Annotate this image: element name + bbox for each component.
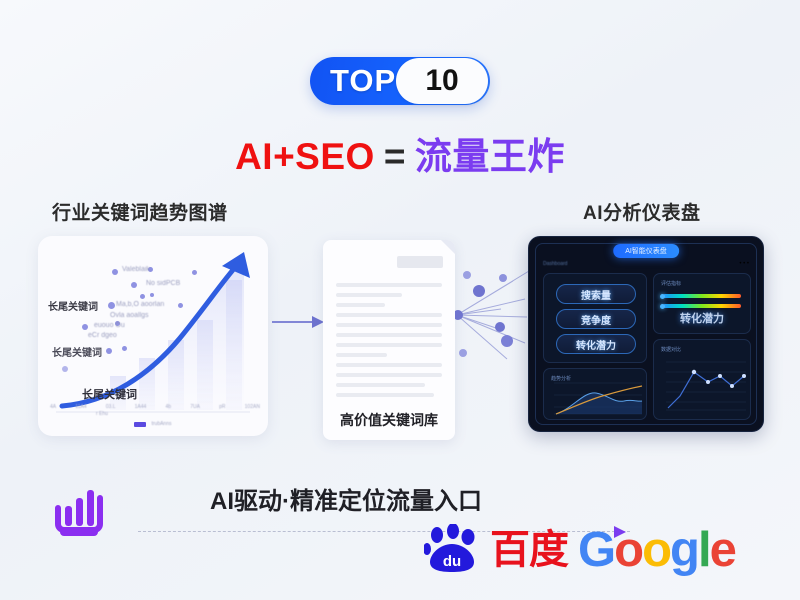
axis-tick: 102AN xyxy=(245,404,260,410)
axis-tick: 4b xyxy=(165,404,171,410)
google-letter: e xyxy=(710,523,735,577)
metric-button-search-volume[interactable]: 搜索量 xyxy=(556,284,636,304)
google-letter: g xyxy=(670,523,698,577)
google-letter: l xyxy=(698,523,710,577)
scatter-dot xyxy=(106,348,112,354)
scatter-dot xyxy=(131,282,137,288)
trend-analysis-panel: 趋势分析 xyxy=(543,368,647,420)
axis-tick: 7UA xyxy=(190,404,200,410)
scatter-dot xyxy=(62,366,68,372)
trend-legend: trubAnns xyxy=(38,421,268,427)
bar-chart-pedestal-icon xyxy=(48,480,110,542)
scatter-dot xyxy=(178,303,183,308)
axis-tick: pR xyxy=(219,404,225,410)
longtail-keyword-label: 长尾关键词 xyxy=(48,298,98,313)
blur-label: No sidPCB xyxy=(146,280,180,287)
right-section-caption: AI分析仪表盘 xyxy=(583,198,701,225)
headline-left: AI+SEO xyxy=(235,136,375,177)
document-header-block xyxy=(397,256,443,268)
gradient-meter xyxy=(663,304,741,308)
scatter-dot xyxy=(82,324,88,330)
scatter-dot xyxy=(192,270,197,275)
dashboard-subtitle: Dashboard xyxy=(543,261,567,267)
legend-swatch xyxy=(134,422,146,427)
meter-handle-icon[interactable] xyxy=(660,294,665,299)
metric-button-conversion[interactable]: 转化潜力 xyxy=(556,334,636,354)
score-meters-panel: 评估指标 转化潜力 xyxy=(653,273,751,334)
page-fold-icon xyxy=(441,240,455,254)
scatter-dot xyxy=(112,269,118,275)
baidu-wordmark: 百度 xyxy=(490,530,568,570)
google-letter: o xyxy=(614,523,642,577)
blur-label: Ma,b,O aoorlan xyxy=(116,301,164,308)
panel-title: 趋势分析 xyxy=(551,375,571,382)
metric-button-competition[interactable]: 竞争度 xyxy=(556,309,636,329)
left-section-caption: 行业关键词趋势图谱 xyxy=(52,198,228,225)
top-badge-count: 10 xyxy=(396,58,488,104)
axis-tick: 4A xyxy=(50,404,56,410)
longtail-keyword-label: 长尾关键词 xyxy=(52,344,102,359)
data-comparison-panel: 数据对比 xyxy=(653,339,751,420)
document-title: 高价值关键词库 xyxy=(323,410,455,430)
gradient-meter xyxy=(663,294,741,298)
google-letter: o xyxy=(642,523,670,577)
metric-buttons-panel: 搜索量 竞争度 转化潜力 xyxy=(543,273,647,363)
top-rank-badge: TOP 10 xyxy=(310,57,490,105)
scatter-dot xyxy=(150,293,154,297)
top-badge-label: TOP xyxy=(330,63,396,99)
blur-label: Valeblaik xyxy=(122,266,150,273)
blur-label: eCr dgeo xyxy=(88,332,117,339)
baidu-logo-icon: du xyxy=(424,524,480,576)
document-text-lines xyxy=(336,283,442,403)
scatter-dot xyxy=(108,302,115,309)
node-network-graphic xyxy=(455,265,533,365)
google-wordmark: Google xyxy=(578,526,735,575)
keyword-trend-chart-card: Valeblaik No sidPCB Ma,b,O aoorlan Ovla … xyxy=(38,236,268,436)
dashboard-title-pill: AI智能仪表盘 xyxy=(613,244,679,258)
page-title: AI+SEO=流量王炸 xyxy=(0,126,800,180)
headline-right: 流量王炸 xyxy=(415,136,565,177)
blur-label: Ovla aoallgs xyxy=(110,312,149,319)
axis-tick: 03.L xyxy=(106,404,116,410)
longtail-keyword-label: 长尾关键词 xyxy=(82,386,137,402)
search-engine-logos: du 百度 Google xyxy=(424,524,735,576)
axis-tick: 1A44 xyxy=(135,404,147,410)
legend-label: trubAnns xyxy=(151,421,171,427)
scatter-dot xyxy=(122,346,127,351)
meters-overlay-label: 转化潜力 xyxy=(654,310,750,326)
baidu-mark-text: du xyxy=(443,553,461,570)
trend-x-axis-label: r Ehu xyxy=(96,411,108,417)
panel-title: 评估指标 xyxy=(661,280,681,287)
slide-canvas: TOP 10 AI+SEO=流量王炸 行业关键词趋势图谱 AI分析仪表盘 xyxy=(0,0,800,600)
blur-label: euouo Ou xyxy=(94,322,125,329)
axis-tick: 11A4 xyxy=(75,404,86,410)
keyword-library-document-card: 高价值关键词库 xyxy=(323,240,455,440)
meter-handle-icon[interactable] xyxy=(660,304,665,309)
footer-tagline: AI驱动·精准定位流量入口 xyxy=(210,481,482,516)
headline-equals: = xyxy=(384,136,406,177)
trend-x-axis: 4A 11A4 03.L 1A44 4b 7UA pR 102AN xyxy=(50,404,260,410)
ai-dashboard-card: AI智能仪表盘 Dashboard • • • 搜索量 竞争度 转化潜力 趋势分… xyxy=(528,236,764,432)
more-dots-icon[interactable]: • • • xyxy=(739,261,749,267)
panel-title: 数据对比 xyxy=(661,346,681,353)
scatter-dot xyxy=(140,294,145,299)
flow-arrow-icon xyxy=(272,315,324,329)
google-letter: G xyxy=(578,523,614,577)
